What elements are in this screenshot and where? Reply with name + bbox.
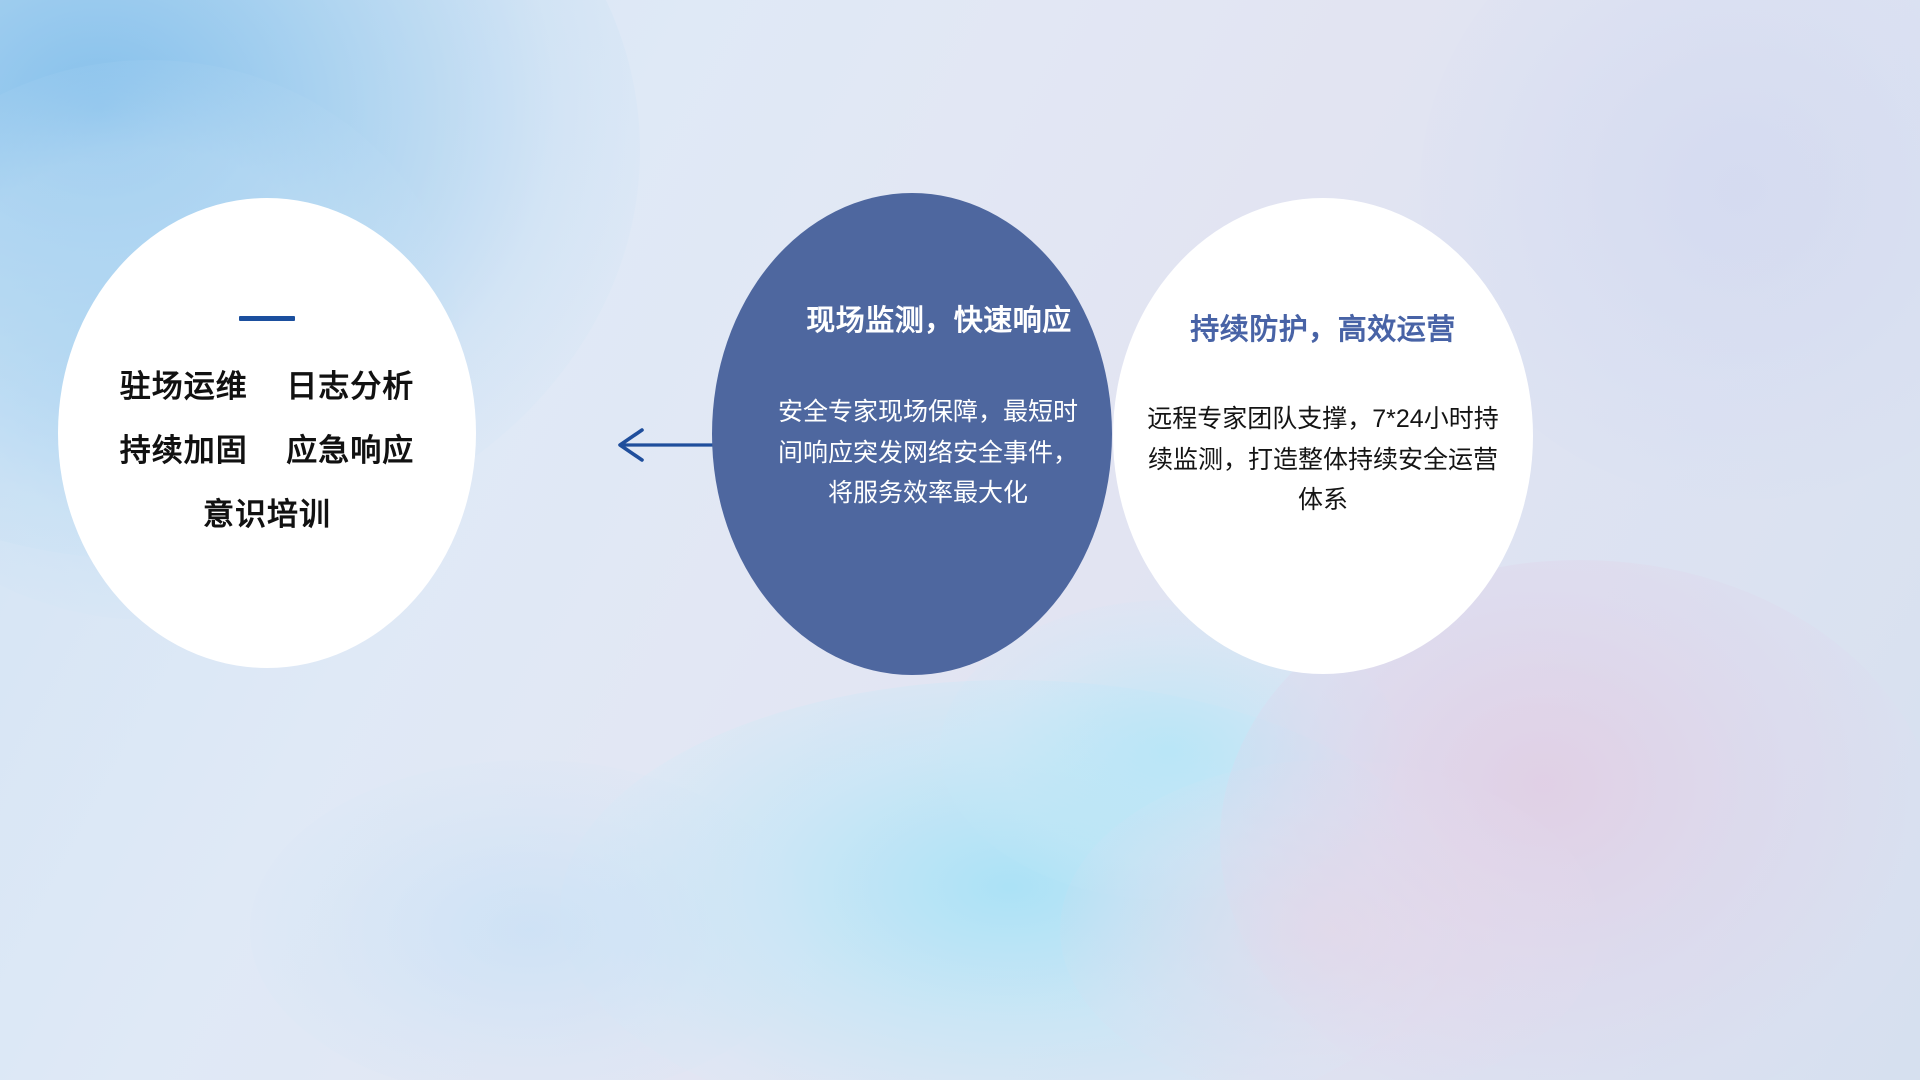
- background-glow-bottom-center: [560, 680, 1460, 1080]
- right-circle-heading: 持续防护，高效运营: [1113, 306, 1533, 348]
- right-circle-body: 远程专家团队支撑，7*24小时持续监测，打造整体持续安全运营体系: [1147, 399, 1499, 521]
- divider-dash: [239, 316, 295, 321]
- middle-circle-body: 安全专家现场保障，最短时间响应突发网络安全事件，将服务效率最大化: [778, 392, 1078, 514]
- background-glow-bottom-left: [250, 760, 810, 1080]
- left-circle-line-1: 驻场运维 日志分析: [58, 371, 476, 402]
- left-circle-content: 驻场运维 日志分析 持续加固 应急响应 意识培训: [58, 316, 476, 530]
- left-circle-line-3: 意识培训: [58, 499, 476, 530]
- middle-circle-heading: 现场监测，快速响应: [798, 297, 1080, 339]
- left-circle-line-2: 持续加固 应急响应: [58, 435, 476, 466]
- background-glow-pink-right: [1060, 760, 1600, 1080]
- slide-canvas: 驻场运维 日志分析 持续加固 应急响应 意识培训 现场监测，快速响应 安全专家现…: [0, 0, 1920, 1080]
- right-circle-content: 持续防护，高效运营 远程专家团队支撑，7*24小时持续监测，打造整体持续安全运营…: [1113, 306, 1533, 521]
- middle-circle-content: 现场监测，快速响应 安全专家现场保障，最短时间响应突发网络安全事件，将服务效率最…: [750, 297, 1080, 514]
- right-circle-card[interactable]: 持续防护，高效运营 远程专家团队支撑，7*24小时持续监测，打造整体持续安全运营…: [1113, 198, 1533, 674]
- left-circle-card[interactable]: 驻场运维 日志分析 持续加固 应急响应 意识培训: [58, 198, 476, 668]
- middle-circle-card[interactable]: 现场监测，快速响应 安全专家现场保障，最短时间响应突发网络安全事件，将服务效率最…: [712, 193, 1112, 675]
